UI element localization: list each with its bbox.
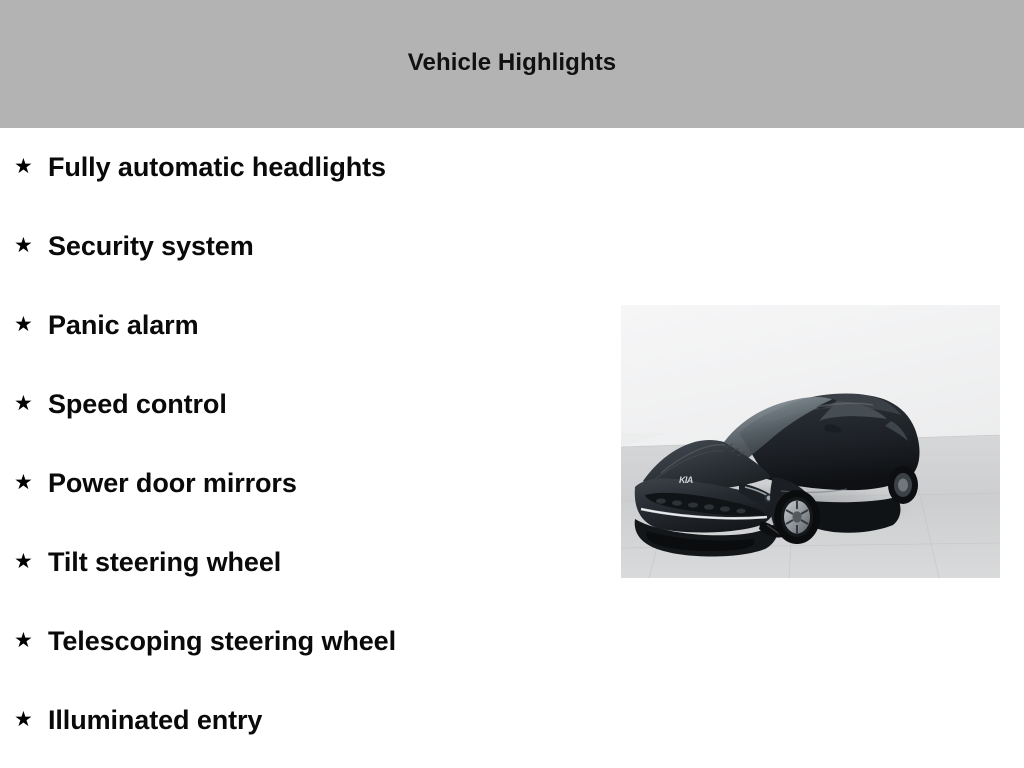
list-item: ★ Illuminated entry xyxy=(0,681,600,760)
highlight-label: Panic alarm xyxy=(48,311,199,339)
vehicle-photo: KIA xyxy=(621,305,1000,578)
highlight-label: Power door mirrors xyxy=(48,469,297,497)
highlight-label: Speed control xyxy=(48,390,227,418)
star-bullet-icon: ★ xyxy=(14,630,40,651)
kia-badge-text: KIA xyxy=(679,475,693,485)
vehicle-photo-graphic: KIA xyxy=(621,305,1000,578)
header-band: Vehicle Highlights xyxy=(0,0,1024,128)
star-bullet-icon: ★ xyxy=(14,235,40,256)
highlight-label: Fully automatic headlights xyxy=(48,153,386,181)
star-bullet-icon: ★ xyxy=(14,551,40,572)
list-item: ★ Security system xyxy=(0,207,600,286)
list-item: ★ Tilt steering wheel xyxy=(0,523,600,602)
list-item: ★ Speed control xyxy=(0,365,600,444)
vehicle-highlights-list: ★ Fully automatic headlights ★ Security … xyxy=(0,128,600,760)
highlight-label: Tilt steering wheel xyxy=(48,548,281,576)
page-title: Vehicle Highlights xyxy=(408,51,617,77)
list-item: ★ Power door mirrors xyxy=(0,444,600,523)
star-bullet-icon: ★ xyxy=(14,314,40,335)
list-item: ★ Fully automatic headlights xyxy=(0,128,600,207)
list-item: ★ Panic alarm xyxy=(0,286,600,365)
star-bullet-icon: ★ xyxy=(14,709,40,730)
list-item: ★ Telescoping steering wheel xyxy=(0,602,600,681)
star-bullet-icon: ★ xyxy=(14,393,40,414)
kia-badge-icon: KIA xyxy=(679,475,693,485)
highlight-label: Security system xyxy=(48,232,254,260)
highlight-label: Telescoping steering wheel xyxy=(48,627,396,655)
star-bullet-icon: ★ xyxy=(14,156,40,177)
highlight-label: Illuminated entry xyxy=(48,706,262,734)
star-bullet-icon: ★ xyxy=(14,472,40,493)
rear-wheel xyxy=(888,466,918,504)
front-wheel xyxy=(774,490,820,544)
